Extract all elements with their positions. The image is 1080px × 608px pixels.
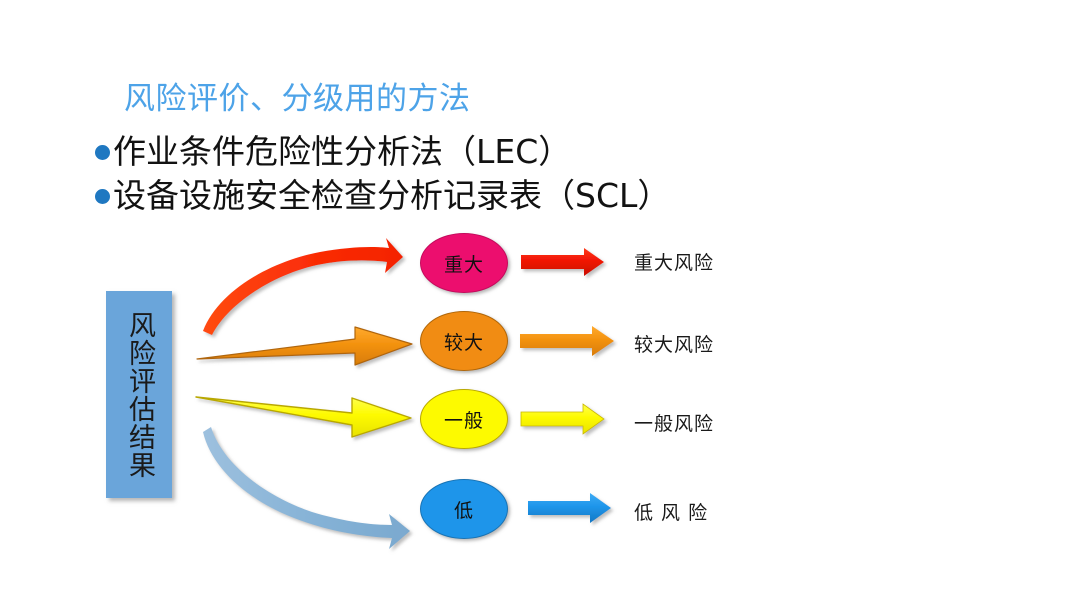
level-ellipse-low[interactable]: 低: [420, 479, 508, 539]
source-box: 风险评估结果: [106, 291, 172, 498]
flow-arrow-orange-tapered-icon: [197, 327, 412, 365]
level-ellipse-label: 重大: [444, 250, 484, 277]
flow-arrow-yellow-tapered-icon: [196, 397, 411, 437]
result-arrow-blue-icon: [528, 493, 611, 523]
level-ellipse-general[interactable]: 一般: [420, 389, 508, 449]
result-arrow-yellow-icon: [521, 404, 604, 434]
level-ellipse-major[interactable]: 重大: [420, 233, 508, 293]
source-box-label: 风险评估结果: [107, 292, 171, 497]
risk-result-label-general: 一般风险: [634, 409, 714, 436]
level-ellipse-label: 较大: [444, 328, 484, 355]
risk-grading-diagram: 风险评估结果 重大 较大 一般 低 重大风险 较大风险 一般风险 低 风 险: [0, 0, 1080, 608]
flow-arrow-red-swoosh-icon: [203, 238, 403, 335]
risk-result-label-high: 较大风险: [634, 330, 714, 357]
level-ellipse-high[interactable]: 较大: [420, 311, 508, 371]
level-ellipse-label: 低: [454, 496, 474, 523]
risk-result-label-low: 低 风 险: [634, 498, 708, 525]
level-ellipse-label: 一般: [444, 406, 484, 433]
flow-arrow-blue-swoosh-icon: [203, 427, 410, 549]
result-arrow-orange-icon: [520, 326, 614, 356]
result-arrow-red-icon: [521, 248, 604, 276]
risk-result-label-major: 重大风险: [634, 248, 714, 275]
